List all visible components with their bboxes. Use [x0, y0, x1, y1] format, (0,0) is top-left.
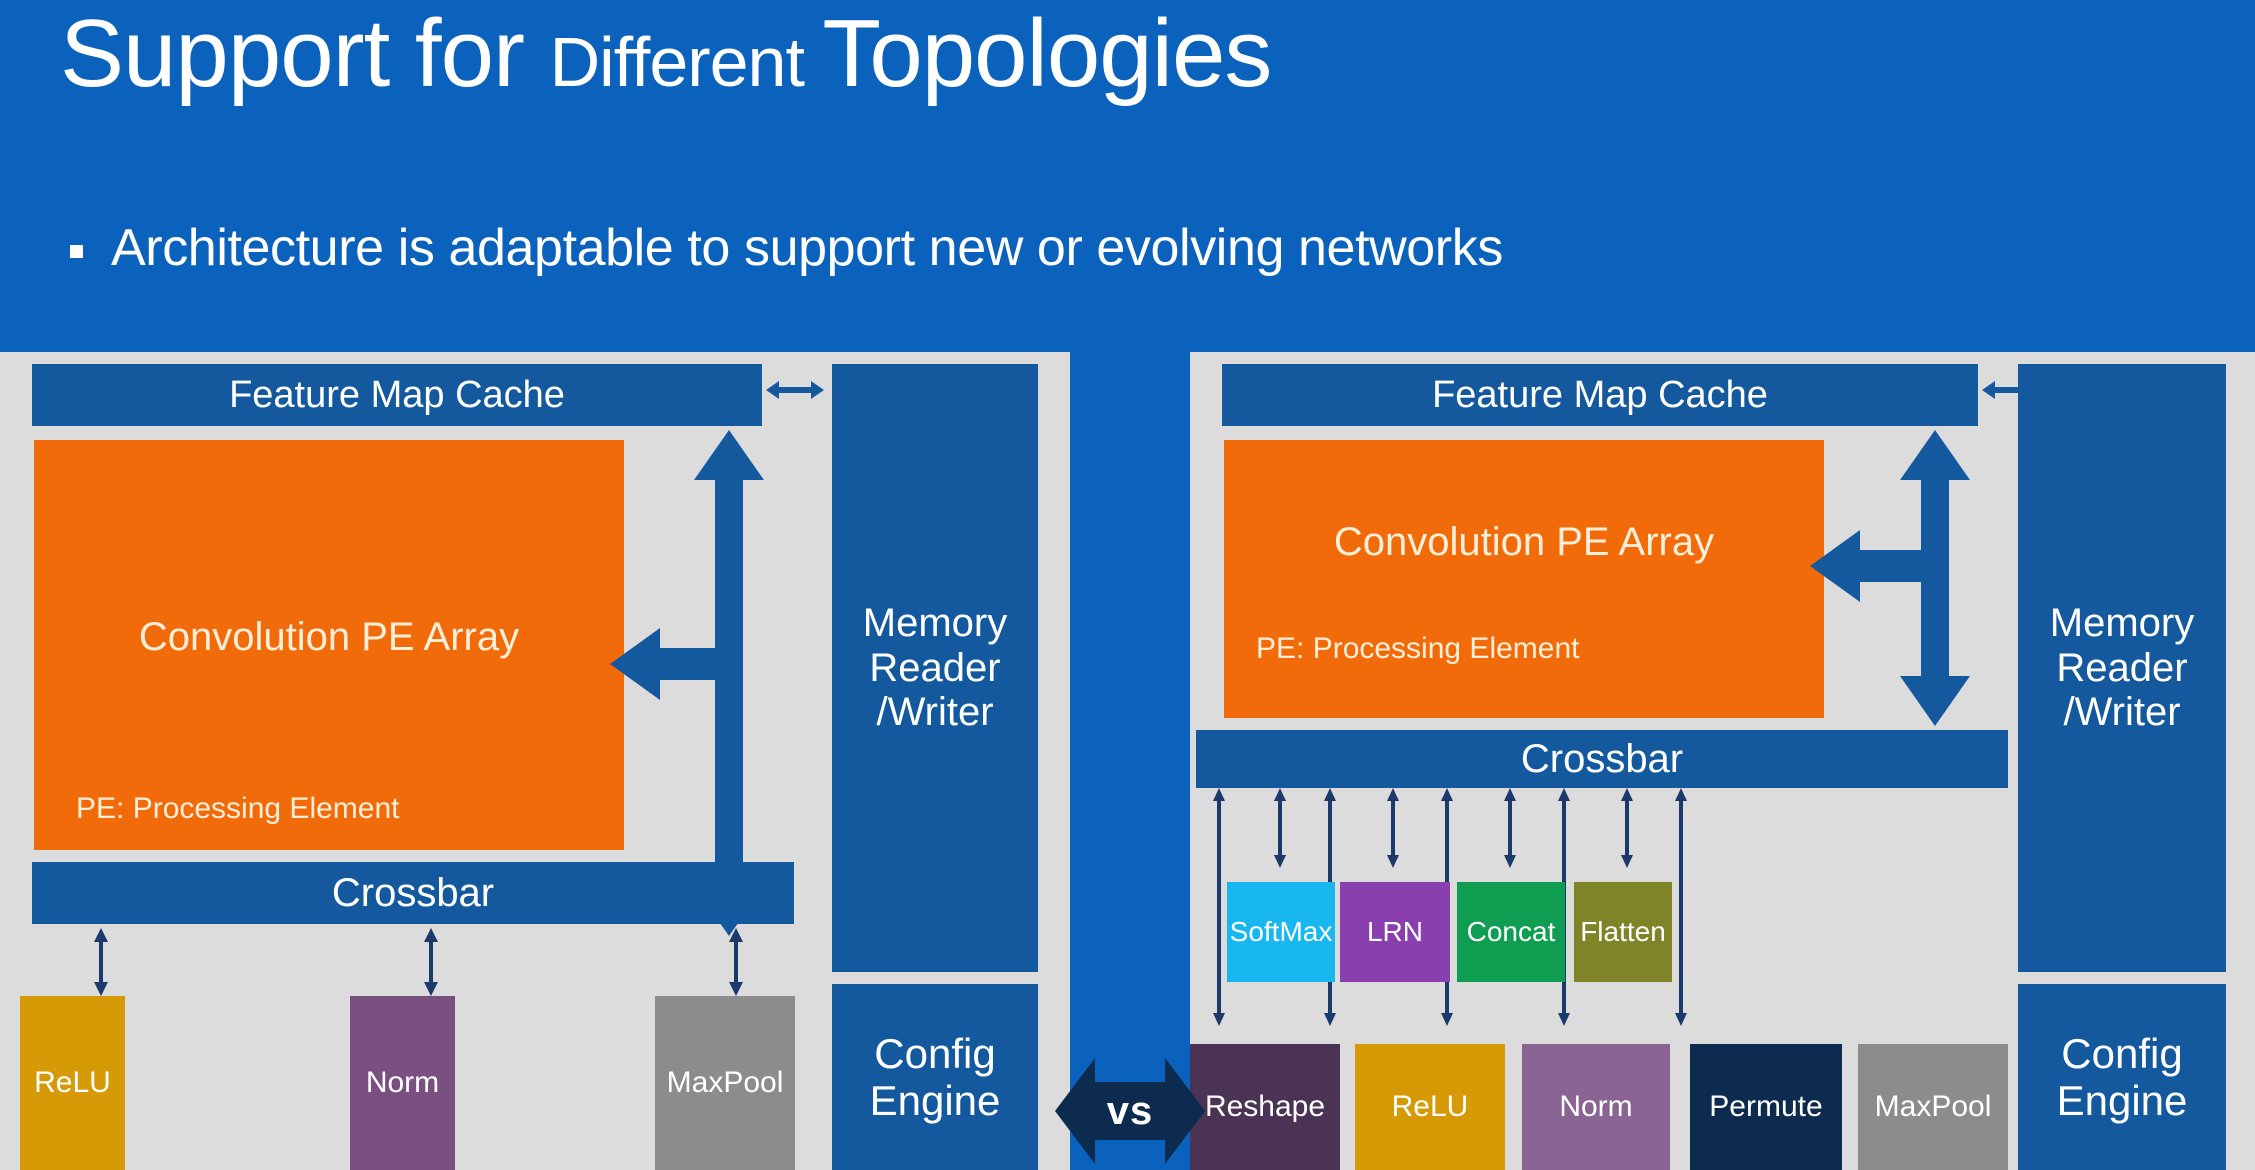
left-op-box-maxpool[interactable]: MaxPool: [655, 996, 795, 1170]
bullet-text: Architecture is adaptable to support new…: [111, 222, 1503, 274]
left-config-line-2: Engine: [870, 1077, 1001, 1124]
right-connector-middle-0: [1273, 788, 1287, 868]
left-memory-line-3: /Writer: [876, 690, 993, 735]
left-memory-line-2: Reader: [869, 646, 1000, 691]
right-config-line-2: Engine: [2057, 1077, 2188, 1124]
right-memory-line-3: /Writer: [2063, 690, 2180, 735]
architecture-diagram: Feature Map Cache Convolution PE Array P…: [0, 352, 2255, 1170]
right-crossbar: Crossbar: [1196, 730, 2008, 788]
right-feature-map-cache: Feature Map Cache: [1222, 364, 1978, 426]
right-memory-line-2: Reader: [2056, 646, 2187, 691]
right-bottom-op-box-maxpool-label: MaxPool: [1875, 1090, 1992, 1124]
right-op-box-lrn-label: LRN: [1367, 916, 1423, 948]
right-connector-middle-1: [1386, 788, 1400, 868]
left-op-connector-maxpool-icon: [728, 928, 744, 996]
left-config-engine: Config Engine: [832, 984, 1038, 1170]
left-op-connector-norm-icon: [423, 928, 439, 996]
left-convolution-pe-array: Convolution PE Array PE: Processing Elem…: [34, 440, 624, 850]
left-architecture-panel: Feature Map Cache Convolution PE Array P…: [0, 352, 1070, 1170]
right-op-box-lrn[interactable]: LRN: [1340, 882, 1450, 982]
right-connector-middle-2: [1503, 788, 1517, 868]
left-cache-memory-arrow-icon: [766, 378, 824, 402]
right-op-box-flatten-label: Flatten: [1580, 916, 1666, 948]
left-op-box-relu-label: ReLU: [34, 1066, 111, 1100]
right-op-box-concat-label: Concat: [1467, 916, 1556, 948]
left-op-box-relu[interactable]: ReLU: [20, 996, 125, 1170]
right-architecture-panel: Feature Map Cache Convolution PE Array P…: [1190, 352, 2255, 1170]
left-op-box-norm-label: Norm: [366, 1066, 439, 1100]
right-bottom-op-box-permute-label: Permute: [1709, 1090, 1822, 1124]
right-config-engine: Config Engine: [2018, 984, 2226, 1170]
right-bottom-op-box-reshape-label: Reshape: [1205, 1090, 1325, 1124]
slide-header: Support for Different Topologies Archite…: [0, 0, 2255, 352]
right-connector-bottom-4: [1674, 788, 1688, 1026]
right-bottom-op-box-norm[interactable]: Norm: [1522, 1044, 1670, 1170]
title-segment-topologies: Topologies: [822, 0, 1271, 107]
bullet-row: Architecture is adaptable to support new…: [70, 222, 1503, 274]
left-pe-legend: PE: Processing Element: [76, 792, 399, 826]
left-memory-line-1: Memory: [863, 601, 1007, 646]
right-op-box-concat[interactable]: Concat: [1457, 882, 1565, 982]
title-segment-support: Support for: [60, 0, 550, 107]
right-bottom-op-box-permute[interactable]: Permute: [1690, 1044, 1842, 1170]
right-pe-feed-arrow-icon: [1810, 524, 1930, 608]
right-memory-line-1: Memory: [2050, 601, 2194, 646]
left-pe-array-label: Convolution PE Array: [34, 615, 624, 660]
left-pe-feed-arrow-icon: [610, 622, 730, 706]
bullet-marker-icon: [70, 245, 83, 258]
right-bottom-op-box-relu[interactable]: ReLU: [1355, 1044, 1505, 1170]
right-op-box-flatten[interactable]: Flatten: [1574, 882, 1672, 982]
left-op-connector-relu-icon: [93, 928, 109, 996]
vs-comparison-badge: vs: [1055, 1052, 1205, 1170]
right-convolution-pe-array: Convolution PE Array PE: Processing Elem…: [1224, 440, 1824, 718]
right-pe-legend: PE: Processing Element: [1256, 632, 1579, 666]
right-op-box-softmax-label: SoftMax: [1230, 916, 1333, 948]
right-bottom-op-box-maxpool[interactable]: MaxPool: [1858, 1044, 2008, 1170]
left-op-box-norm[interactable]: Norm: [350, 996, 455, 1170]
vs-label: vs: [1055, 1052, 1205, 1170]
right-connector-bottom-0: [1212, 788, 1226, 1026]
left-crossbar: Crossbar: [32, 862, 794, 924]
left-op-box-maxpool-label: MaxPool: [667, 1066, 784, 1100]
right-connector-middle-3: [1620, 788, 1634, 868]
right-op-box-softmax[interactable]: SoftMax: [1227, 882, 1335, 982]
left-feature-map-cache: Feature Map Cache: [32, 364, 762, 426]
right-pe-array-label: Convolution PE Array: [1224, 520, 1824, 565]
title-segment-different: Different: [550, 23, 823, 101]
right-bottom-op-box-relu-label: ReLU: [1392, 1090, 1469, 1124]
right-bottom-op-box-norm-label: Norm: [1559, 1090, 1632, 1124]
left-memory-reader-writer: Memory Reader /Writer: [832, 364, 1038, 972]
left-config-line-1: Config: [874, 1030, 995, 1077]
right-memory-reader-writer: Memory Reader /Writer: [2018, 364, 2226, 972]
right-config-line-1: Config: [2061, 1030, 2182, 1077]
right-bottom-op-box-reshape[interactable]: Reshape: [1190, 1044, 1340, 1170]
page-title: Support for Different Topologies: [60, 6, 1271, 102]
